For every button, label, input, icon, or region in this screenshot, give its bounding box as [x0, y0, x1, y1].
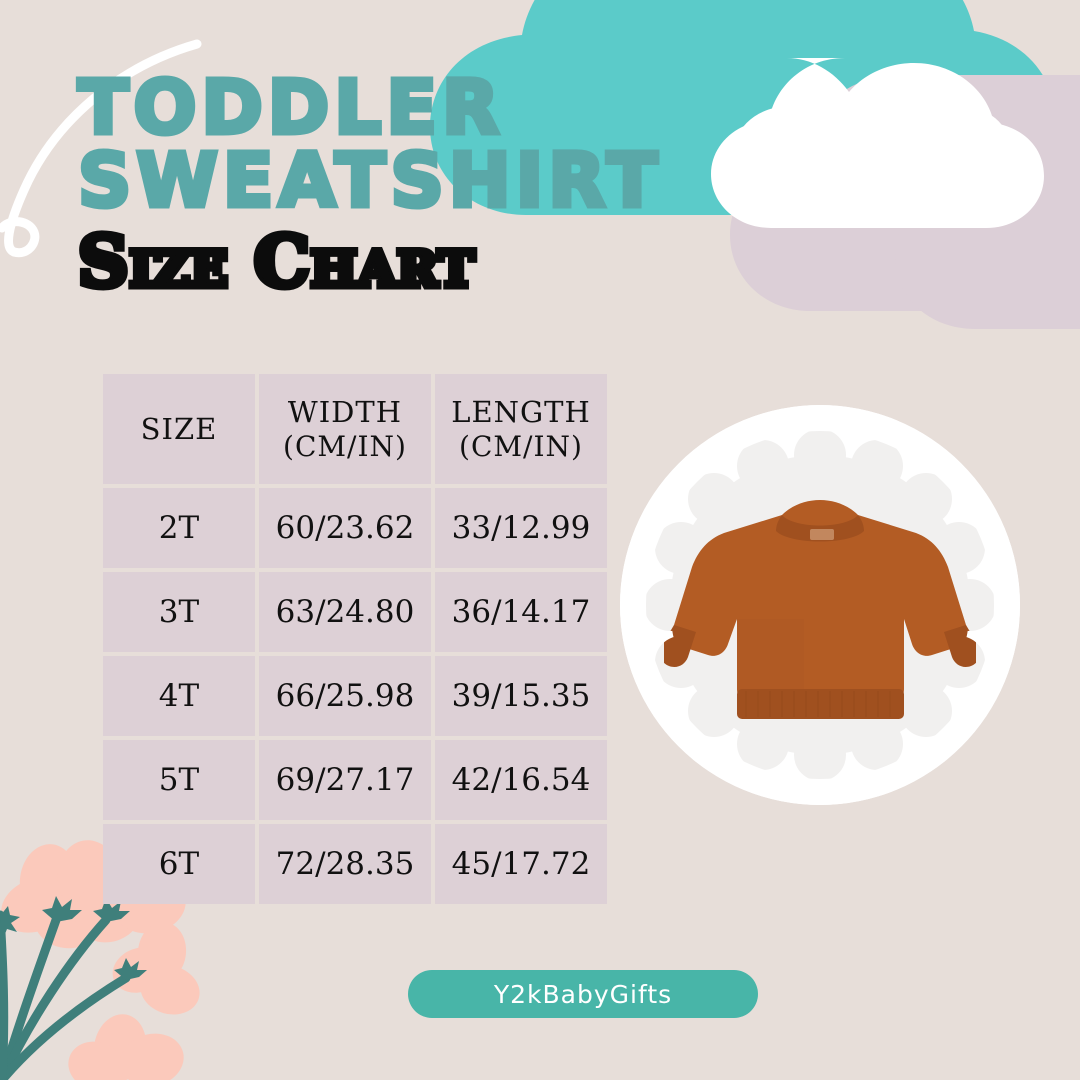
title-line-2: SWEATSHIRT	[78, 145, 738, 218]
column-header-length: LENGTH (CM/IN)	[435, 374, 607, 484]
cell-length: 42/16.54	[435, 740, 607, 820]
table-row: 4T 66/25.98 39/15.35	[103, 656, 607, 736]
cell-length: 39/15.35	[435, 656, 607, 736]
cell-width: 69/27.17	[259, 740, 431, 820]
cell-length: 36/14.17	[435, 572, 607, 652]
column-header-width-unit: (CM/IN)	[259, 430, 431, 463]
table-row: 2T 60/23.62 33/12.99	[103, 488, 607, 568]
cloud-white-icon	[711, 58, 1044, 228]
scalloped-frame-icon	[620, 405, 1020, 805]
cell-size: 2T	[103, 488, 255, 568]
column-header-width: WIDTH (CM/IN)	[259, 374, 431, 484]
title-line-1: TODDLER	[78, 72, 738, 145]
brand-name: Y2kBabyGifts	[494, 980, 672, 1009]
table-row: 5T 69/27.17 42/16.54	[103, 740, 607, 820]
cloud-lilac-icon	[730, 75, 1080, 329]
cell-width: 66/25.98	[259, 656, 431, 736]
product-image-frame	[620, 405, 1020, 805]
column-header-length-unit: (CM/IN)	[435, 430, 607, 463]
cell-size: 4T	[103, 656, 255, 736]
size-chart-table: SIZE WIDTH (CM/IN) LENGTH (CM/IN) 2T 60/…	[99, 370, 611, 908]
column-header-length-main: LENGTH	[451, 395, 591, 429]
cell-length: 33/12.99	[435, 488, 607, 568]
table-header-row: SIZE WIDTH (CM/IN) LENGTH (CM/IN)	[103, 374, 607, 484]
table-row: 3T 63/24.80 36/14.17	[103, 572, 607, 652]
cell-size: 6T	[103, 824, 255, 904]
page-subtitle: Size Chart	[78, 227, 738, 297]
table-row: 6T 72/28.35 45/17.72	[103, 824, 607, 904]
cell-size: 5T	[103, 740, 255, 820]
cell-width: 60/23.62	[259, 488, 431, 568]
cell-length: 45/17.72	[435, 824, 607, 904]
poster-canvas: TODDLER SWEATSHIRT Size Chart SIZE WIDTH…	[0, 0, 1080, 1080]
column-header-size: SIZE	[103, 374, 255, 484]
brand-badge[interactable]: Y2kBabyGifts	[408, 970, 758, 1018]
heading-block: TODDLER SWEATSHIRT Size Chart	[78, 72, 738, 297]
cell-width: 63/24.80	[259, 572, 431, 652]
cell-size: 3T	[103, 572, 255, 652]
cell-width: 72/28.35	[259, 824, 431, 904]
column-header-width-main: WIDTH	[288, 395, 402, 429]
